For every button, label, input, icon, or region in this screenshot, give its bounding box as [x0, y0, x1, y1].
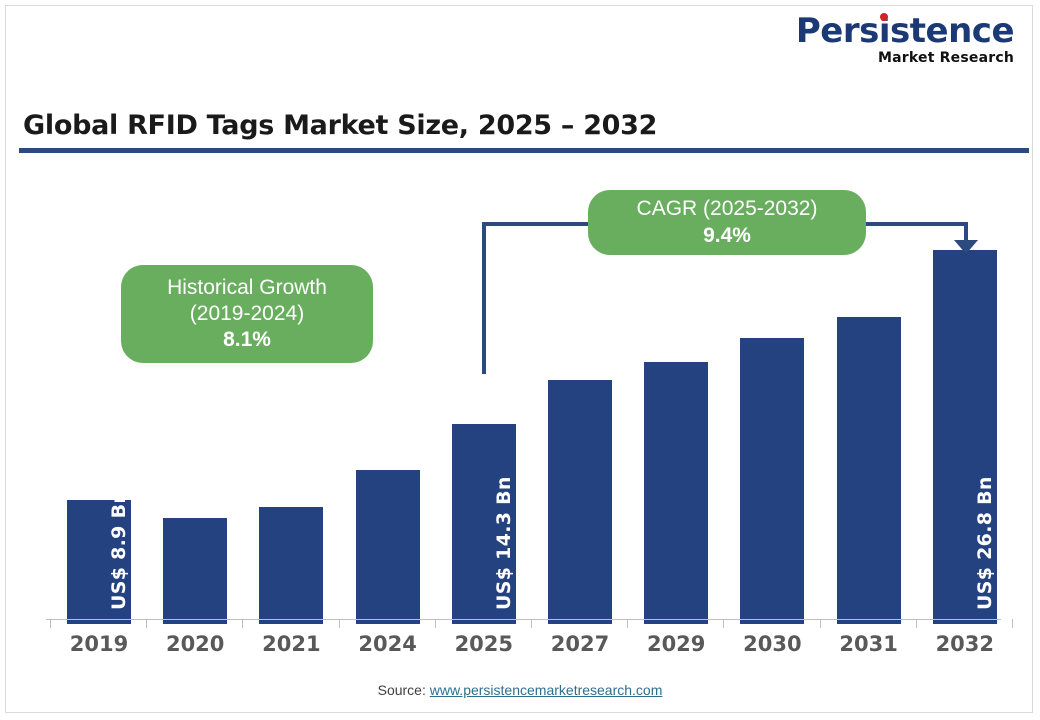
x-axis-tick-2021: [242, 619, 243, 628]
x-axis-label-2027: 2027: [535, 632, 625, 656]
x-axis-label-2031: 2031: [824, 632, 914, 656]
x-axis-tick-2025: [435, 619, 436, 628]
cagr-connector-horizontal-right: [858, 222, 968, 226]
bar-2029: [644, 362, 708, 624]
cagr-value: 9.4%: [703, 223, 751, 249]
x-axis-label-2032: 2032: [920, 632, 1010, 656]
bar-2027: [548, 380, 612, 624]
chart-card: Persistence Market Research Global RFID …: [5, 5, 1033, 713]
x-axis-tick-2019: [50, 619, 51, 628]
x-axis-tick-2020: [146, 619, 147, 628]
source-prefix: Source:: [378, 682, 430, 698]
x-axis-label-2024: 2024: [343, 632, 433, 656]
x-axis-label-2030: 2030: [727, 632, 817, 656]
bar-2024: [356, 470, 420, 624]
bar-2030: [740, 338, 804, 624]
cagr-line1: CAGR (2025-2032): [637, 196, 818, 222]
x-axis-label-2019: 2019: [54, 632, 144, 656]
x-axis-tick-2024: [339, 619, 340, 628]
bar-2021: [259, 507, 323, 624]
bar-value-label-2032: US$ 26.8 Bn: [974, 476, 996, 610]
bar-2020: [163, 518, 227, 624]
x-axis-label-2029: 2029: [631, 632, 721, 656]
x-axis-tick-2032: [916, 619, 917, 628]
historical-growth-line2: (2019-2024): [190, 301, 304, 327]
bar-value-label-2025: US$ 14.3 Bn: [493, 476, 515, 610]
bar-value-label-2019: US$ 8.9 Bn: [108, 490, 130, 610]
source-link[interactable]: www.persistencemarketresearch.com: [430, 682, 663, 698]
x-axis-line: [46, 619, 1001, 620]
cagr-connector-horizontal-left: [482, 222, 597, 226]
historical-growth-line1: Historical Growth: [167, 275, 327, 301]
historical-growth-callout: Historical Growth (2019-2024) 8.1%: [121, 265, 373, 363]
cagr-connector-vertical-start: [482, 222, 486, 374]
x-axis-tick-2031: [820, 619, 821, 628]
historical-growth-value: 8.1%: [223, 327, 271, 353]
x-axis-label-2021: 2021: [246, 632, 336, 656]
x-axis-label-2020: 2020: [150, 632, 240, 656]
cagr-callout: CAGR (2025-2032) 9.4%: [588, 190, 866, 255]
bar-2031: [837, 317, 901, 624]
source-note: Source: www.persistencemarketresearch.co…: [6, 682, 1034, 698]
x-axis-tick-2030: [723, 619, 724, 628]
cagr-arrow-icon: [954, 240, 978, 254]
x-axis-tick-end: [1012, 619, 1013, 628]
x-axis-label-2025: 2025: [439, 632, 529, 656]
x-axis-tick-2029: [627, 619, 628, 628]
x-axis-tick-2027: [531, 619, 532, 628]
